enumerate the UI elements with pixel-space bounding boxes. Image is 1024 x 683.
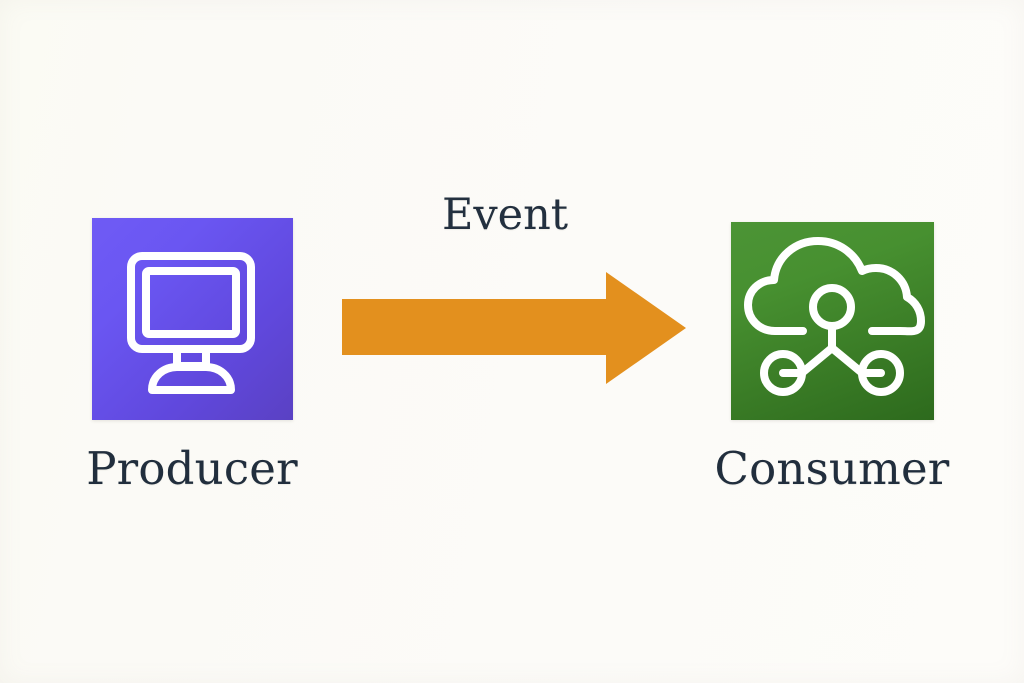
consumer-icon-tile[interactable] xyxy=(731,222,934,420)
event-label: Event xyxy=(402,194,608,237)
right-arrow-icon xyxy=(338,266,690,390)
diagram-canvas: Producer Event xyxy=(0,0,1024,683)
monitor-icon xyxy=(92,218,293,420)
producer-label: Producer xyxy=(42,446,342,491)
consumer-label: Consumer xyxy=(682,446,982,491)
producer-icon-tile[interactable] xyxy=(92,218,293,420)
cloud-network-icon xyxy=(731,222,934,420)
